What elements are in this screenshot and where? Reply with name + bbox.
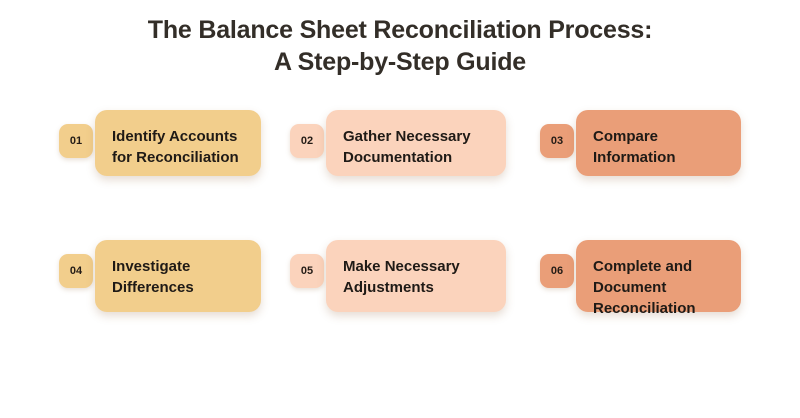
- step-card-06: Complete and Document Reconciliation: [576, 240, 741, 312]
- step-label-03: Compare Information: [593, 126, 676, 168]
- step-number-badge-03: 03: [540, 124, 574, 158]
- page-title: The Balance Sheet Reconciliation Process…: [0, 14, 800, 78]
- steps-row-2: 04 Investigate Differences 05 Make Neces…: [0, 240, 800, 370]
- step-number-badge-05: 05: [290, 254, 324, 288]
- step-card-05: Make Necessary Adjustments: [326, 240, 506, 312]
- step-number-badge-02: 02: [290, 124, 324, 158]
- step-card-01: Identify Accounts for Reconciliation: [95, 110, 261, 176]
- step-card-04: Investigate Differences: [95, 240, 261, 312]
- step-label-06: Complete and Document Reconciliation: [593, 256, 696, 319]
- step-item-04: 04 Investigate Differences: [59, 240, 261, 312]
- title-line-2: A Step-by-Step Guide: [0, 46, 800, 78]
- title-line-1: The Balance Sheet Reconciliation Process…: [0, 14, 800, 46]
- steps-grid: 01 Identify Accounts for Reconciliation …: [0, 110, 800, 370]
- step-item-03: 03 Compare Information: [540, 110, 741, 176]
- step-number-badge-01: 01: [59, 124, 93, 158]
- step-item-02: 02 Gather Necessary Documentation: [290, 110, 506, 176]
- steps-row-1: 01 Identify Accounts for Reconciliation …: [0, 110, 800, 240]
- step-label-05: Make Necessary Adjustments: [343, 256, 460, 298]
- step-label-02: Gather Necessary Documentation: [343, 126, 471, 168]
- step-item-01: 01 Identify Accounts for Reconciliation: [59, 110, 261, 176]
- step-label-04: Investigate Differences: [112, 256, 194, 298]
- infographic-root: The Balance Sheet Reconciliation Process…: [0, 0, 800, 418]
- step-item-06: 06 Complete and Document Reconciliation: [540, 240, 741, 312]
- step-number-badge-06: 06: [540, 254, 574, 288]
- step-card-03: Compare Information: [576, 110, 741, 176]
- step-item-05: 05 Make Necessary Adjustments: [290, 240, 506, 312]
- step-label-01: Identify Accounts for Reconciliation: [112, 126, 239, 168]
- step-card-02: Gather Necessary Documentation: [326, 110, 506, 176]
- step-number-badge-04: 04: [59, 254, 93, 288]
